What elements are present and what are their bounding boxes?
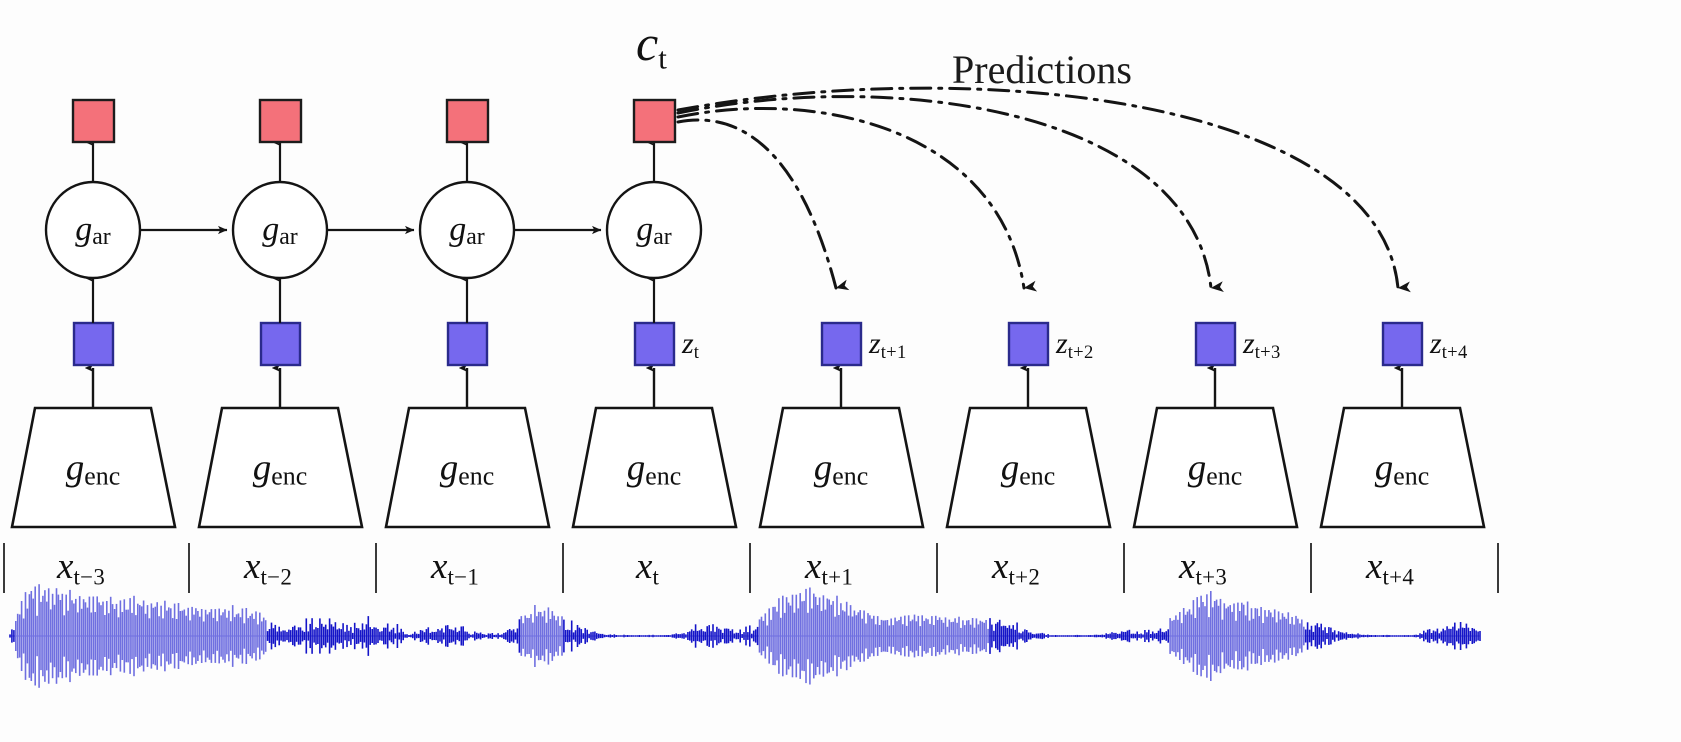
latent-label-subscript: t+4 [1442,342,1468,363]
input-label-x-t+4: xt+4 [1366,548,1414,589]
latent-label-symbol: z [1430,327,1442,360]
latent-square-group [74,323,1422,365]
genc-label-sub: enc [832,461,868,490]
predictions-label: Predictions [952,46,1132,93]
genc-label-sub: enc [1019,461,1055,490]
genc-label-main: g [814,448,833,489]
gar-label-sub: ar [279,224,298,250]
input-label-x-t+2: xt+2 [992,548,1040,589]
genc-label-sub: enc [1393,461,1429,490]
prediction-arc-group [678,88,1398,288]
genc-label-sub: enc [271,461,307,490]
gar-label: gar [449,211,485,251]
audio-waveform [10,584,1480,688]
latent-label-z-t: zt [682,329,699,363]
input-label-x-t: xt [636,548,659,589]
input-label-subscript: t+2 [1008,564,1040,589]
context-square-c-t-2 [260,100,301,142]
cpc-architecture-figure: ct Predictions gar gar gar gar genc genc… [0,0,1681,742]
context-square-group [73,100,675,142]
genc-label: genc [814,447,868,492]
latent-label-symbol: z [869,327,881,360]
genc-label: genc [66,447,120,492]
context-square-c-t-1 [447,100,488,142]
genc-label-sub: enc [1206,461,1242,490]
input-label-subscript: t+1 [821,564,853,589]
latent-square-z-t-1 [448,323,487,365]
input-label-x-t-1: xt−1 [431,548,479,589]
latent-label-subscript: t [694,342,699,363]
latent-label-subscript: t+1 [881,342,907,363]
genc-label-main: g [440,448,459,489]
prediction-arc-t+1 [678,120,836,288]
latent-label-symbol: z [1243,327,1255,360]
genc-label-main: g [1188,448,1207,489]
context-square-c-t [634,100,675,142]
genc-label-main: g [253,448,272,489]
input-label-subscript: t−3 [73,564,105,589]
latent-square-z-t+3 [1196,323,1235,365]
latent-label-subscript: t+3 [1255,342,1281,363]
latent-label-z-t+4: zt+4 [1430,329,1468,363]
gar-label: gar [75,211,111,251]
latent-label-z-t+3: zt+3 [1243,329,1281,363]
input-label-symbol: x [805,546,821,587]
input-label-symbol: x [992,546,1008,587]
enc-to-latent-arrow-group [93,368,1402,408]
encoder-trapezoid-group [12,408,1484,527]
genc-label-main: g [66,448,85,489]
gar-label: gar [636,211,672,251]
segment-separator-group [4,543,1498,593]
latent-label-symbol: z [1056,327,1068,360]
latent-square-z-t+2 [1009,323,1048,365]
gar-label: gar [262,211,298,251]
input-label-x-t+1: xt+1 [805,548,853,589]
context-vector-label: ct [636,18,667,74]
context-vector-subscript: t [658,41,667,76]
gar-label-main: g [75,211,92,248]
input-label-symbol: x [57,546,73,587]
input-label-x-t-2: xt−2 [244,548,292,589]
latent-label-symbol: z [682,327,694,360]
gar-label-sub: ar [92,224,111,250]
genc-label-main: g [1001,448,1020,489]
gar-to-context-arrow-group [93,142,654,182]
context-square-c-t-3 [73,100,114,142]
genc-label: genc [1375,447,1429,492]
latent-square-z-t [635,323,674,365]
genc-label: genc [1188,447,1242,492]
gar-label-main: g [636,211,653,248]
latent-label-z-t+1: zt+1 [869,329,907,363]
input-label-x-t-3: xt−3 [57,548,105,589]
genc-label: genc [627,447,681,492]
input-label-subscript: t−1 [447,564,479,589]
latent-to-gar-arrow-group [93,278,654,323]
genc-label-main: g [1375,448,1394,489]
input-label-subscript: t+3 [1195,564,1227,589]
prediction-arc-t+3 [678,97,1211,288]
input-label-symbol: x [1179,546,1195,587]
genc-label: genc [253,447,307,492]
input-label-x-t+3: xt+3 [1179,548,1227,589]
genc-label-main: g [627,448,646,489]
input-label-symbol: x [244,546,260,587]
genc-label-sub: enc [645,461,681,490]
latent-square-z-t-2 [261,323,300,365]
input-label-symbol: x [431,546,447,587]
gar-label-main: g [262,211,279,248]
context-vector-symbol: c [636,15,658,71]
latent-square-z-t-3 [74,323,113,365]
latent-label-z-t+2: zt+2 [1056,329,1094,363]
latent-square-z-t+4 [1383,323,1422,365]
gar-label-sub: ar [466,224,485,250]
genc-label-sub: enc [458,461,494,490]
genc-label: genc [1001,447,1055,492]
latent-label-subscript: t+2 [1068,342,1094,363]
input-label-symbol: x [1366,546,1382,587]
diagram-vector-layer [0,0,1681,742]
genc-label: genc [440,447,494,492]
gar-label-main: g [449,211,466,248]
input-label-subscript: t−2 [260,564,292,589]
input-label-symbol: x [636,546,652,587]
prediction-arc-t+2 [678,108,1024,288]
genc-label-sub: enc [84,461,120,490]
input-label-subscript: t [652,564,659,589]
latent-square-z-t+1 [822,323,861,365]
gar-label-sub: ar [653,224,672,250]
prediction-arc-t+4 [678,88,1398,288]
input-label-subscript: t+4 [1382,564,1414,589]
